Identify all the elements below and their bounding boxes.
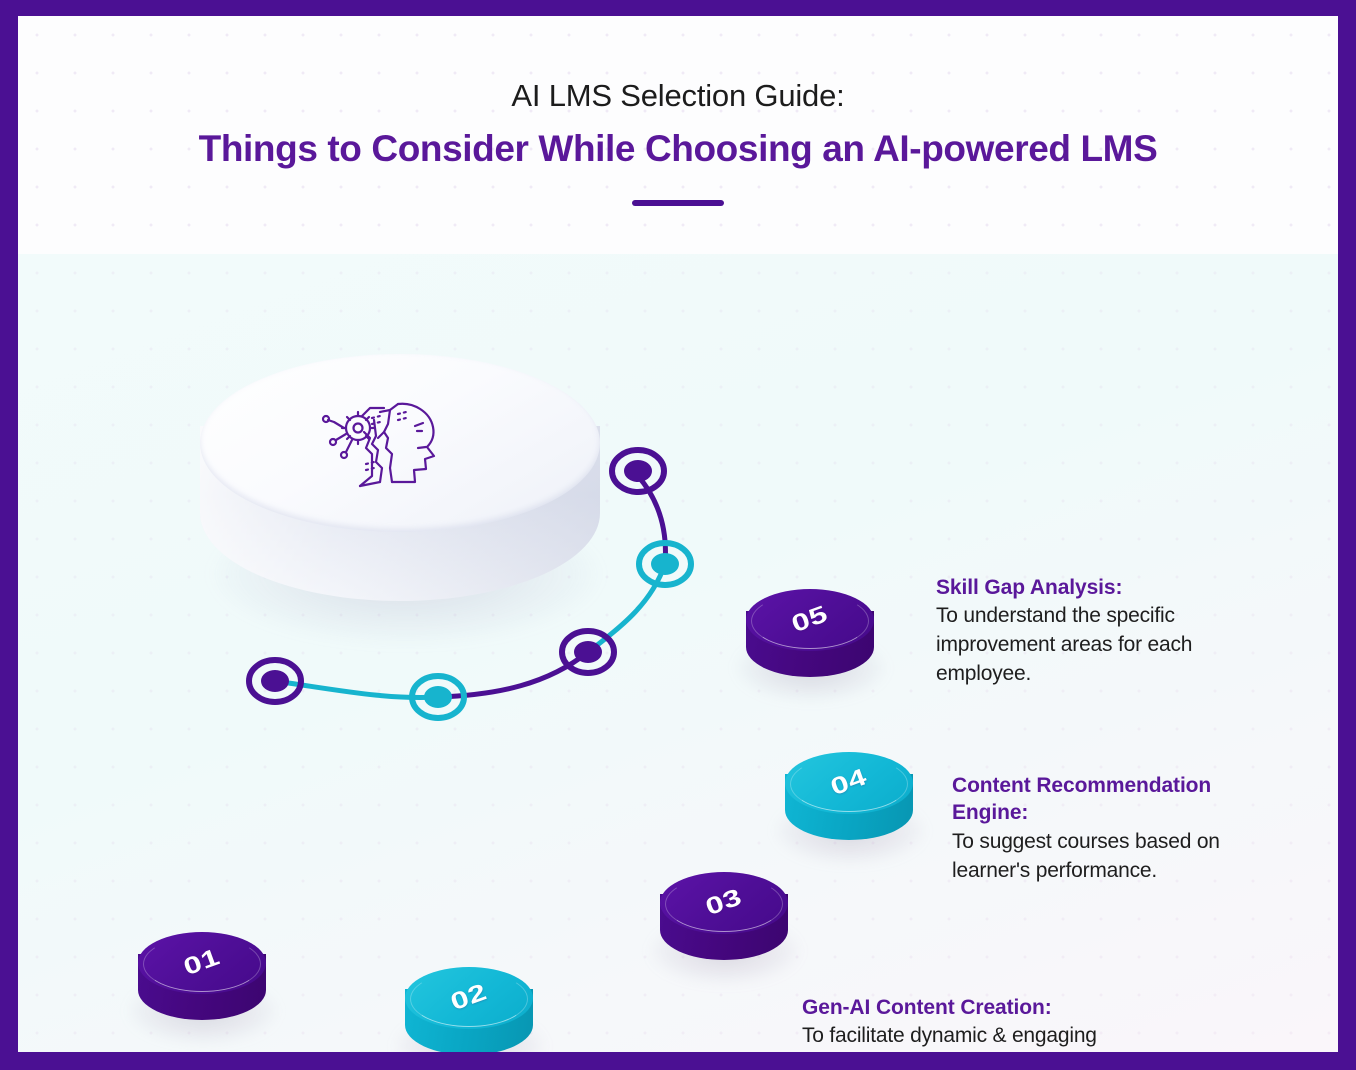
step-body-05: To understand the specific improvement a… <box>936 602 1256 689</box>
step-body-04: To suggest courses based on learner's pe… <box>952 828 1292 886</box>
step-title-05: Skill Gap Analysis: <box>936 574 1256 601</box>
step-body-03: To facilitate dynamic & engaging content… <box>802 1022 1132 1052</box>
step-text-05: Skill Gap Analysis: To understand the sp… <box>936 574 1256 689</box>
connector-node-1 <box>249 660 301 702</box>
diagram-stage: 01 02 03 <box>18 254 1338 1052</box>
step-marker-03[interactable]: 03 <box>656 872 792 984</box>
title-divider <box>632 200 724 206</box>
header-band: AI LMS Selection Guide: Things to Consid… <box>18 16 1338 254</box>
connector-segment-2-purple <box>438 652 588 697</box>
page-title: Things to Consider While Choosing an AI-… <box>199 127 1158 171</box>
ai-head-circuit-icon <box>314 390 464 505</box>
step-marker-01[interactable]: 01 <box>134 932 270 1044</box>
infographic-canvas: AI LMS Selection Guide: Things to Consid… <box>18 16 1338 1052</box>
step-text-03: Gen-AI Content Creation: To facilitate d… <box>802 994 1132 1052</box>
step-title-03: Gen-AI Content Creation: <box>802 994 1132 1021</box>
header-subtitle: AI LMS Selection Guide: <box>511 78 844 115</box>
central-platform <box>196 354 604 654</box>
infographic-poster: AI LMS Selection Guide: Things to Consid… <box>0 0 1356 1070</box>
connector-node-2 <box>412 676 464 718</box>
step-text-04: Content Recommendation Engine: To sugges… <box>952 772 1292 886</box>
connector-segment-4-purple <box>638 476 665 564</box>
connector-node-5 <box>612 450 664 492</box>
step-title-04: Content Recommendation Engine: <box>952 772 1292 827</box>
connector-node-4 <box>639 543 691 585</box>
step-marker-02[interactable]: 02 <box>401 967 537 1052</box>
step-marker-04[interactable]: 04 <box>781 752 917 864</box>
step-marker-05[interactable]: 05 <box>742 589 878 701</box>
connector-segment-1-cyan <box>275 681 438 698</box>
